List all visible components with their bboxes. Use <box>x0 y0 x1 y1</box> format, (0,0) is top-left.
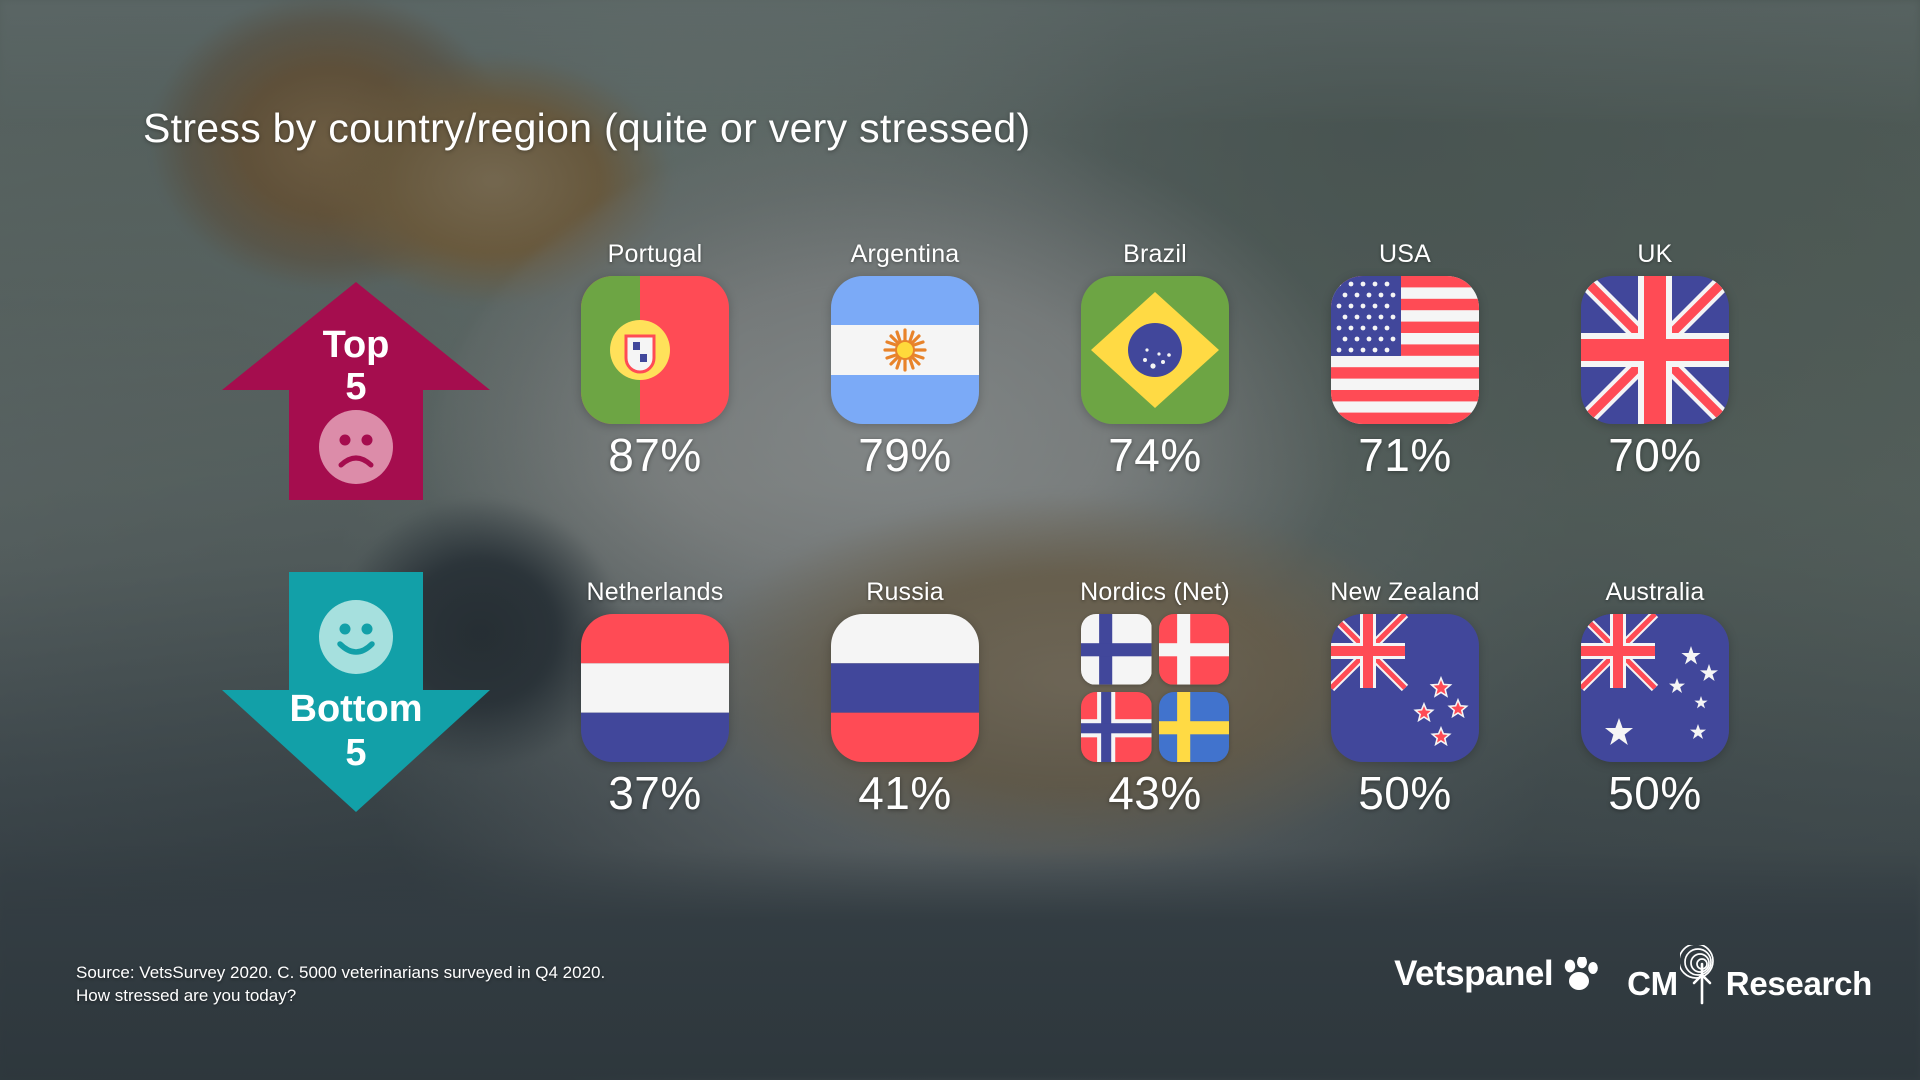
country-label: Argentina <box>851 240 960 274</box>
background-photo <box>0 0 1920 1080</box>
source-line-1: Source: VetsSurvey 2020. C. 5000 veterin… <box>76 962 605 985</box>
flag-brazil-icon <box>1081 276 1229 424</box>
country-percentage: 87% <box>608 428 702 482</box>
country-label: Portugal <box>608 240 703 274</box>
country-cell-russia[interactable]: Russia 41% <box>780 578 1030 820</box>
country-percentage: 41% <box>858 766 952 820</box>
flag-uk-icon <box>1581 276 1729 424</box>
top-5-number: 5 <box>222 366 490 409</box>
country-cell-australia[interactable]: Australia <box>1530 578 1780 820</box>
vetspanel-logo: Vetspanel <box>1394 954 1599 994</box>
country-label: USA <box>1379 240 1431 274</box>
country-label: Russia <box>866 578 944 612</box>
country-cell-brazil[interactable]: Brazil 74% <box>1030 240 1280 482</box>
bottom-5-label: Bottom <box>222 690 490 728</box>
flag-finland-icon <box>1081 614 1152 685</box>
flag-netherlands-icon <box>581 614 729 762</box>
country-percentage: 43% <box>1108 766 1202 820</box>
cm-research-logo: CM Research <box>1627 945 1872 1003</box>
country-percentage: 70% <box>1608 428 1702 482</box>
antenna-signal-icon <box>1680 945 1724 1007</box>
flag-nordics-group-icon <box>1081 614 1229 762</box>
country-label: UK <box>1637 240 1672 274</box>
country-cell-portugal[interactable]: Portugal 87% <box>530 240 780 482</box>
country-percentage: 50% <box>1358 766 1452 820</box>
country-percentage: 79% <box>858 428 952 482</box>
country-percentage: 71% <box>1358 428 1452 482</box>
happy-face-icon <box>319 600 393 674</box>
paw-print-icon <box>1561 957 1599 991</box>
flag-argentina-icon <box>831 276 979 424</box>
country-percentage: 37% <box>608 766 702 820</box>
country-label: Australia <box>1605 578 1704 612</box>
country-label: Brazil <box>1123 240 1187 274</box>
country-label: Netherlands <box>586 578 723 612</box>
country-cell-uk[interactable]: UK 70% <box>1530 240 1780 482</box>
page-title: Stress by country/region (quite or very … <box>143 105 1030 152</box>
sad-face-icon <box>319 410 393 484</box>
country-cell-nordics[interactable]: Nordics (Net) <box>1030 578 1280 820</box>
country-percentage: 74% <box>1108 428 1202 482</box>
flag-usa-icon <box>1331 276 1479 424</box>
top-5-country-row: Portugal 87% Argentina <box>530 240 1880 482</box>
flag-denmark-icon <box>1159 614 1230 685</box>
country-cell-usa[interactable]: USA <box>1280 240 1530 482</box>
flag-sweden-icon <box>1159 692 1230 763</box>
country-cell-new-zealand[interactable]: New Zealand <box>1280 578 1530 820</box>
logo-bar: Vetspanel CM Research <box>1394 945 1872 1003</box>
country-cell-netherlands[interactable]: Netherlands 37% <box>530 578 780 820</box>
vetspanel-wordmark: Vetspanel <box>1394 954 1553 994</box>
flag-australia-icon <box>1581 614 1729 762</box>
country-label: New Zealand <box>1330 578 1480 612</box>
bottom-5-number: 5 <box>222 732 490 775</box>
country-cell-argentina[interactable]: Argentina 79% <box>780 240 1030 482</box>
cm-wordmark: CM <box>1627 965 1678 1003</box>
flag-russia-icon <box>831 614 979 762</box>
source-note: Source: VetsSurvey 2020. C. 5000 veterin… <box>76 962 605 1008</box>
country-label: Nordics (Net) <box>1080 578 1230 612</box>
flag-portugal-icon <box>581 276 729 424</box>
bottom-5-country-row: Netherlands 37% Russia 41% Nordics (Net) <box>530 578 1880 820</box>
background-dark-overlay <box>0 0 1920 1080</box>
research-wordmark: Research <box>1726 965 1872 1003</box>
country-percentage: 50% <box>1608 766 1702 820</box>
top-5-arrow-badge: Top 5 <box>222 282 490 500</box>
flag-norway-icon <box>1081 692 1152 763</box>
bottom-5-arrow-badge: Bottom 5 <box>222 572 490 812</box>
flag-new-zealand-icon <box>1331 614 1479 762</box>
source-line-2: How stressed are you today? <box>76 985 605 1008</box>
top-5-label: Top <box>222 326 490 364</box>
